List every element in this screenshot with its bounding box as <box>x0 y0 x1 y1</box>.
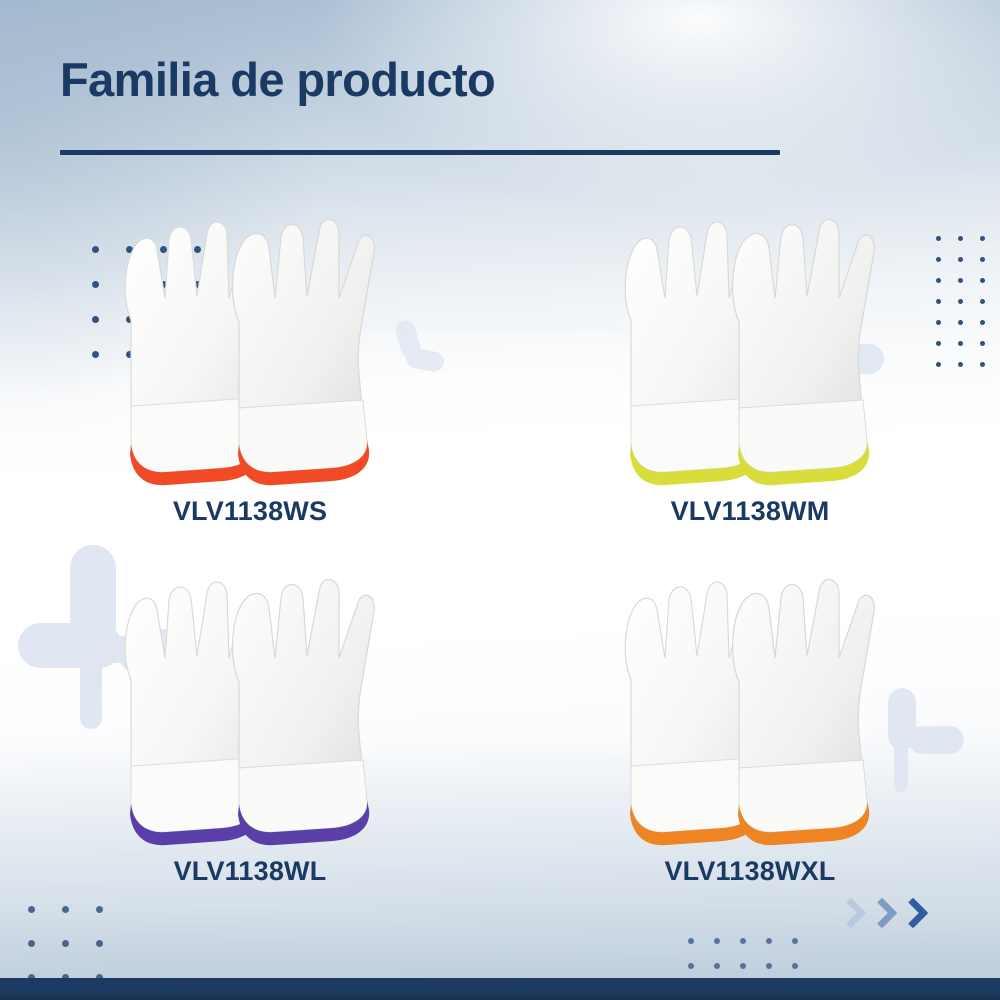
chevron-right-icon[interactable] <box>900 898 920 930</box>
product-card[interactable]: VLV1138WXL <box>500 560 1000 920</box>
title-underline-rule <box>60 150 780 155</box>
glove-image-wxl <box>585 560 915 850</box>
glove-image-ws <box>85 200 415 490</box>
glove-image-wm <box>585 200 915 490</box>
glove-pair-illustration <box>85 200 415 490</box>
product-card[interactable]: VLV1138WL <box>0 560 500 920</box>
chevron-right-icon[interactable] <box>869 898 889 930</box>
glove-pair-illustration <box>85 560 415 850</box>
product-card[interactable]: VLV1138WS <box>0 200 500 560</box>
product-sku-label: VLV1138WXL <box>664 856 835 887</box>
product-grid: VLV1138WS VLV1138WM <box>0 200 1000 920</box>
product-sku-label: VLV1138WM <box>671 496 830 527</box>
product-family-poster: Familia de producto <box>0 0 1000 1000</box>
chevron-right-icon[interactable] <box>838 898 858 930</box>
footer-bar <box>0 978 1000 1000</box>
next-chevrons[interactable] <box>838 898 920 930</box>
glove-pair-illustration <box>585 200 915 490</box>
glove-pair-illustration <box>585 560 915 850</box>
product-sku-label: VLV1138WL <box>174 856 327 887</box>
page-title: Familia de producto <box>60 52 495 107</box>
product-sku-label: VLV1138WS <box>173 496 327 527</box>
glove-image-wl <box>85 560 415 850</box>
product-card[interactable]: VLV1138WM <box>500 200 1000 560</box>
